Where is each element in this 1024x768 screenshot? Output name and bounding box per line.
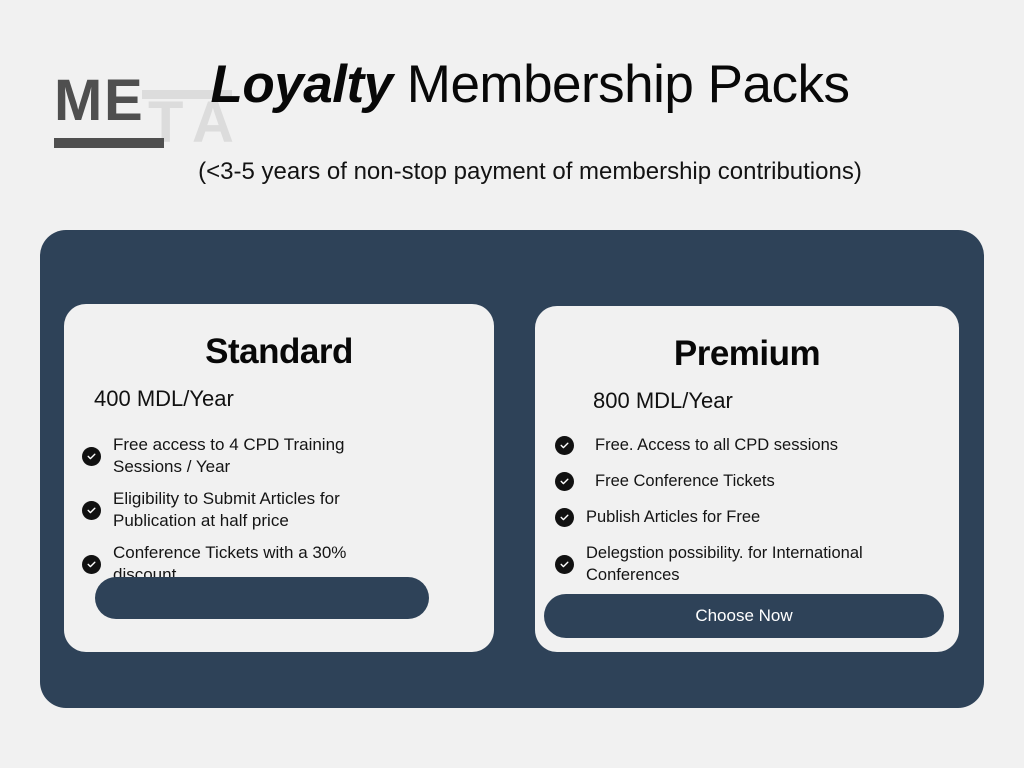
plan-name-premium: Premium (535, 306, 959, 374)
check-circle-icon (82, 501, 101, 520)
feature-item: Delegstion possibility. for Internationa… (555, 542, 959, 586)
page-title: Loyalty Membership Packs (180, 58, 880, 112)
feature-text: Eligibility to Submit Articles for Publi… (113, 488, 413, 532)
feature-text: Delegstion possibility. for Internationa… (586, 542, 906, 586)
plan-card-standard[interactable]: Standard 400 MDL/Year Free access to 4 C… (64, 304, 494, 652)
feature-item: Free access to 4 CPD Training Sessions /… (82, 434, 494, 478)
feature-text: Free Conference Tickets (586, 470, 775, 492)
plan-price-standard: 400 MDL/Year (64, 372, 494, 412)
check-circle-icon (555, 472, 574, 491)
plan-name-standard: Standard (64, 304, 494, 372)
plans-panel: Standard 400 MDL/Year Free access to 4 C… (40, 230, 984, 708)
feature-item: Publish Articles for Free (555, 506, 959, 528)
feature-list-premium: Free. Access to all CPD sessions Free Co… (535, 414, 959, 586)
feature-item: Free Conference Tickets (555, 470, 959, 492)
feature-item: Free. Access to all CPD sessions (555, 434, 959, 456)
logo-bar-bottom (54, 138, 164, 148)
plan-price-premium: 800 MDL/Year (535, 374, 959, 414)
plan-card-premium[interactable]: Premium 800 MDL/Year Free. Access to all… (535, 306, 959, 652)
logo-letter-m: M (54, 72, 103, 130)
check-circle-icon (555, 555, 574, 574)
logo-letter-e: E (104, 72, 144, 130)
choose-button-premium[interactable]: Choose Now (544, 594, 944, 638)
feature-text: Free. Access to all CPD sessions (586, 434, 838, 456)
feature-text: Publish Articles for Free (586, 506, 760, 528)
page-title-emphasis: Loyalty (211, 55, 393, 114)
check-circle-icon (555, 508, 574, 527)
choose-button-standard[interactable] (95, 577, 429, 619)
page-subtitle: (<3-5 years of non-stop payment of membe… (180, 158, 880, 186)
check-circle-icon (555, 436, 574, 455)
check-circle-icon (82, 555, 101, 574)
feature-text: Free access to 4 CPD Training Sessions /… (113, 434, 413, 478)
check-circle-icon (82, 447, 101, 466)
feature-list-standard: Free access to 4 CPD Training Sessions /… (64, 412, 494, 586)
feature-item: Eligibility to Submit Articles for Publi… (82, 488, 494, 532)
page-title-rest: Membership Packs (393, 55, 850, 114)
title-block: Loyalty Membership Packs (<3-5 years of … (180, 58, 880, 112)
page-header: M E T A Loyalty Membership Packs (<3-5 y… (0, 0, 1024, 226)
